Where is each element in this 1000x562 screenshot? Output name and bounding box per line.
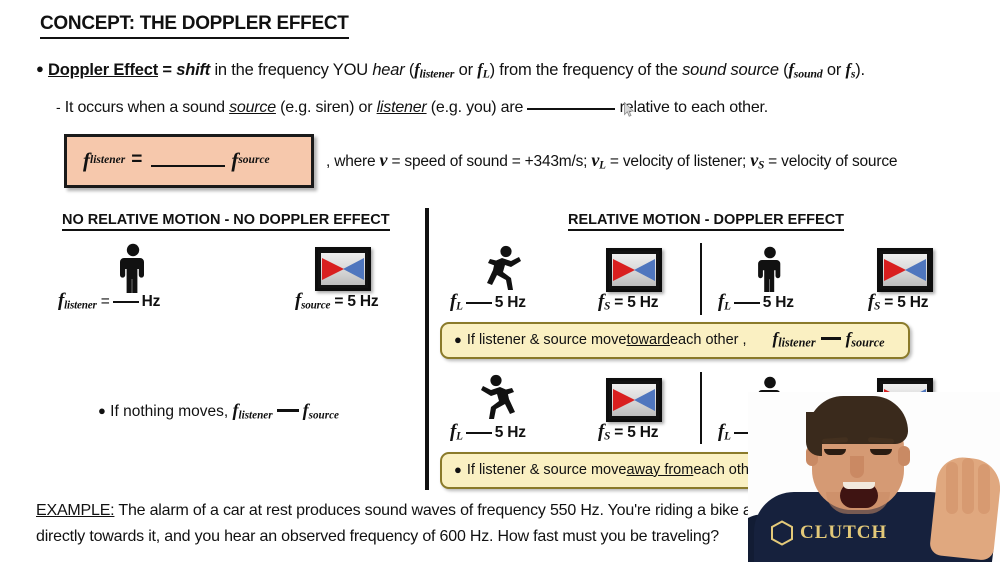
- formula-sub-source: source: [238, 154, 269, 166]
- webcam-sideburn: [806, 412, 822, 456]
- webcam-finger-3: [978, 464, 990, 514]
- example-label: EXAMPLE:: [36, 502, 114, 519]
- term-shift: shift: [176, 61, 210, 79]
- row1-listener-right-blank[interactable]: [734, 302, 760, 304]
- occurrence-text-a: It occurs when a sound: [60, 99, 229, 116]
- row1-listener-right-value: 5 Hz: [763, 294, 794, 311]
- subscript-sound: sound: [794, 67, 823, 81]
- callout-text-a: If listener & source move: [467, 462, 627, 478]
- speaker-cone-area: [883, 254, 927, 286]
- panel-divider: [425, 208, 429, 490]
- term-hear: hear: [372, 61, 404, 79]
- lecture-slide: CONCEPT: THE DOPPLER EFFECT ● Doppler Ef…: [0, 0, 1000, 562]
- legend-text-b: = speed of sound = +343m/s;: [387, 153, 591, 170]
- fill-in-blank-motion[interactable]: [527, 108, 615, 110]
- left-source-sub: source: [301, 299, 330, 311]
- equals-sign: =: [158, 61, 176, 79]
- callout-formula-toward: flistenerfsource: [773, 329, 885, 351]
- speaker-cone-red: [613, 259, 635, 281]
- webcam-eye-left: [824, 449, 846, 455]
- speaker-cone-red: [322, 258, 344, 280]
- formula-sub-listener: listener: [90, 154, 125, 166]
- example-line1: The alarm of a car at rest produces soun…: [114, 502, 832, 519]
- left-listener-unit: Hz: [142, 293, 161, 310]
- occurrence-text-b: (e.g. siren) or: [276, 99, 377, 116]
- instructor-webcam-overlay: CLUTCH: [748, 392, 1000, 562]
- clutch-logo: CLUTCH: [770, 520, 887, 546]
- term-listener: listener: [377, 99, 427, 116]
- callout-emphasis-away: away from: [626, 462, 693, 478]
- hexagon-icon: [770, 520, 794, 546]
- row1-source-right-sub: S: [874, 300, 880, 312]
- webcam-nose: [850, 456, 864, 478]
- speaker-cone-area: [321, 253, 365, 285]
- callout-emphasis-toward: toward: [626, 332, 670, 348]
- row1-listener-right-sub: L: [724, 300, 731, 312]
- definition-text-b: ) from the frequency of the: [490, 61, 683, 79]
- paren-close-b: ).: [855, 61, 865, 79]
- left-panel-heading: NO RELATIVE MOTION - NO DOPPLER EFFECT: [62, 212, 390, 231]
- speaker-cone-blue: [634, 259, 655, 281]
- webcam-finger-2: [962, 458, 974, 514]
- doppler-formula-box: flistener = fsource: [64, 134, 314, 188]
- doppler-occurrence-note: - It occurs when a sound source (e.g. si…: [56, 99, 768, 117]
- standing-person-icon: [752, 246, 788, 292]
- subscript-listener: listener: [420, 67, 455, 81]
- callout-text-b: each other ,: [670, 332, 747, 348]
- term-sound-source: sound source: [682, 61, 779, 79]
- note-comparison-blank[interactable]: [277, 409, 299, 412]
- speaker-cone-blue: [343, 258, 364, 280]
- speaker-cone-blue: [634, 389, 655, 411]
- note-sub-listener: listener: [239, 409, 273, 421]
- speaker-cone-red: [884, 259, 906, 281]
- subscript-L: L: [483, 67, 490, 81]
- webcam-eye-right: [870, 449, 892, 455]
- occurrence-text-c: (e.g. you) are: [427, 99, 528, 116]
- callout-sub-listener: listener: [778, 336, 815, 350]
- speaker-cone-area: [612, 254, 656, 286]
- row1-source-left-value: = 5 Hz: [614, 294, 658, 311]
- clutch-logo-text: CLUTCH: [800, 522, 887, 544]
- term-source: source: [229, 99, 276, 116]
- left-source-label: fsource = 5 Hz: [295, 290, 378, 312]
- speaker-cone-area: [612, 384, 656, 416]
- left-listener-equals: =: [101, 293, 110, 310]
- row2-listener-left-value: 5 Hz: [495, 424, 526, 441]
- webcam-teeth: [843, 482, 875, 489]
- callout-toward: ● If listener & source move toward each …: [440, 322, 910, 359]
- row1-listener-left-blank[interactable]: [466, 302, 492, 304]
- formula-equals: =: [131, 149, 142, 171]
- symbol-v-L: v: [591, 150, 599, 170]
- bullet-glyph: ●: [36, 61, 44, 76]
- speaker-icon: [606, 378, 662, 422]
- doppler-effect-definition: ● Doppler Effect = shift in the frequenc…: [36, 60, 865, 82]
- speaker-icon: [877, 248, 933, 292]
- row2-source-left-sub: S: [604, 430, 610, 442]
- definition-text-a: in the frequency YOU: [210, 61, 372, 79]
- doppler-formula-row: flistener = fsource , where v = speed of…: [64, 134, 897, 188]
- row2-source-left-value: = 5 Hz: [614, 424, 658, 441]
- left-listener-label: flistener =Hz: [58, 290, 160, 312]
- occurrence-text-d: relative to each other.: [615, 99, 768, 116]
- formula-f-listener: f: [83, 148, 90, 173]
- or-b: or: [823, 61, 846, 79]
- webcam-finger-1: [946, 462, 958, 514]
- page-title: CONCEPT: THE DOPPLER EFFECT: [40, 13, 349, 39]
- standing-person-icon: [113, 243, 153, 293]
- left-listener-sub: listener: [64, 299, 97, 311]
- row1-listener-left-label: fL5 Hz: [450, 291, 526, 313]
- term-doppler-effect: Doppler Effect: [48, 61, 158, 79]
- left-source-value: = 5 Hz: [334, 293, 378, 310]
- callout-text-a: If listener & source move: [467, 332, 627, 348]
- row1-source-right-label: fS = 5 Hz: [868, 291, 928, 313]
- row2-listener-right-sub: L: [724, 430, 731, 442]
- row2-listener-left-blank[interactable]: [466, 432, 492, 434]
- row1-source-right-value: = 5 Hz: [884, 294, 928, 311]
- row1-source-left-label: fS = 5 Hz: [598, 291, 658, 313]
- running-person-left-icon: [478, 374, 524, 422]
- left-listener-blank[interactable]: [113, 301, 139, 303]
- note-sub-source: source: [309, 409, 339, 421]
- speaker-cone-red: [613, 389, 635, 411]
- formula-variable-legend: , where v = speed of sound = +343m/s; vL…: [326, 150, 897, 171]
- speaker-cone-blue: [905, 259, 926, 281]
- row2-listener-left-label: fL5 Hz: [450, 421, 526, 443]
- callout-comparison-blank[interactable]: [821, 337, 841, 340]
- row2-listener-left-sub: L: [456, 430, 463, 442]
- webcam-ear-right: [898, 446, 910, 466]
- row1-listener-left-sub: L: [456, 300, 463, 312]
- row1-listener-left-value: 5 Hz: [495, 294, 526, 311]
- webcam-hair: [808, 396, 908, 444]
- note-text: If nothing moves,: [110, 403, 232, 420]
- running-person-right-icon: [478, 245, 524, 293]
- legend-text-c: = velocity of listener;: [606, 153, 750, 170]
- subscript-vL: L: [599, 160, 606, 172]
- right-panel-heading: RELATIVE MOTION - DOPPLER EFFECT: [568, 212, 844, 231]
- callout-sub-source: source: [851, 336, 884, 350]
- right-panel-sub-divider-row2: [700, 372, 702, 444]
- callout-bullet-glyph: ●: [454, 462, 462, 477]
- right-panel-sub-divider-row1: [700, 243, 702, 315]
- speaker-icon: [606, 248, 662, 292]
- no-motion-note: ● If nothing moves, flistenerfsource: [98, 400, 339, 421]
- legend-text-d: = velocity of source: [764, 153, 897, 170]
- row1-source-left-sub: S: [604, 300, 610, 312]
- row2-source-left-label: fS = 5 Hz: [598, 421, 658, 443]
- formula-fraction-blank[interactable]: [151, 153, 225, 167]
- paren-open-a: (: [405, 61, 415, 79]
- example-line2: directly towards it, and you hear an obs…: [36, 528, 719, 545]
- row1-listener-right-label: fL5 Hz: [718, 291, 794, 313]
- note-bullet-glyph: ●: [98, 403, 106, 418]
- legend-text-a: , where: [326, 153, 380, 170]
- or-a: or: [454, 61, 477, 79]
- symbol-v-S: v: [750, 150, 758, 170]
- speaker-icon: [315, 247, 371, 291]
- callout-bullet-glyph: ●: [454, 332, 462, 347]
